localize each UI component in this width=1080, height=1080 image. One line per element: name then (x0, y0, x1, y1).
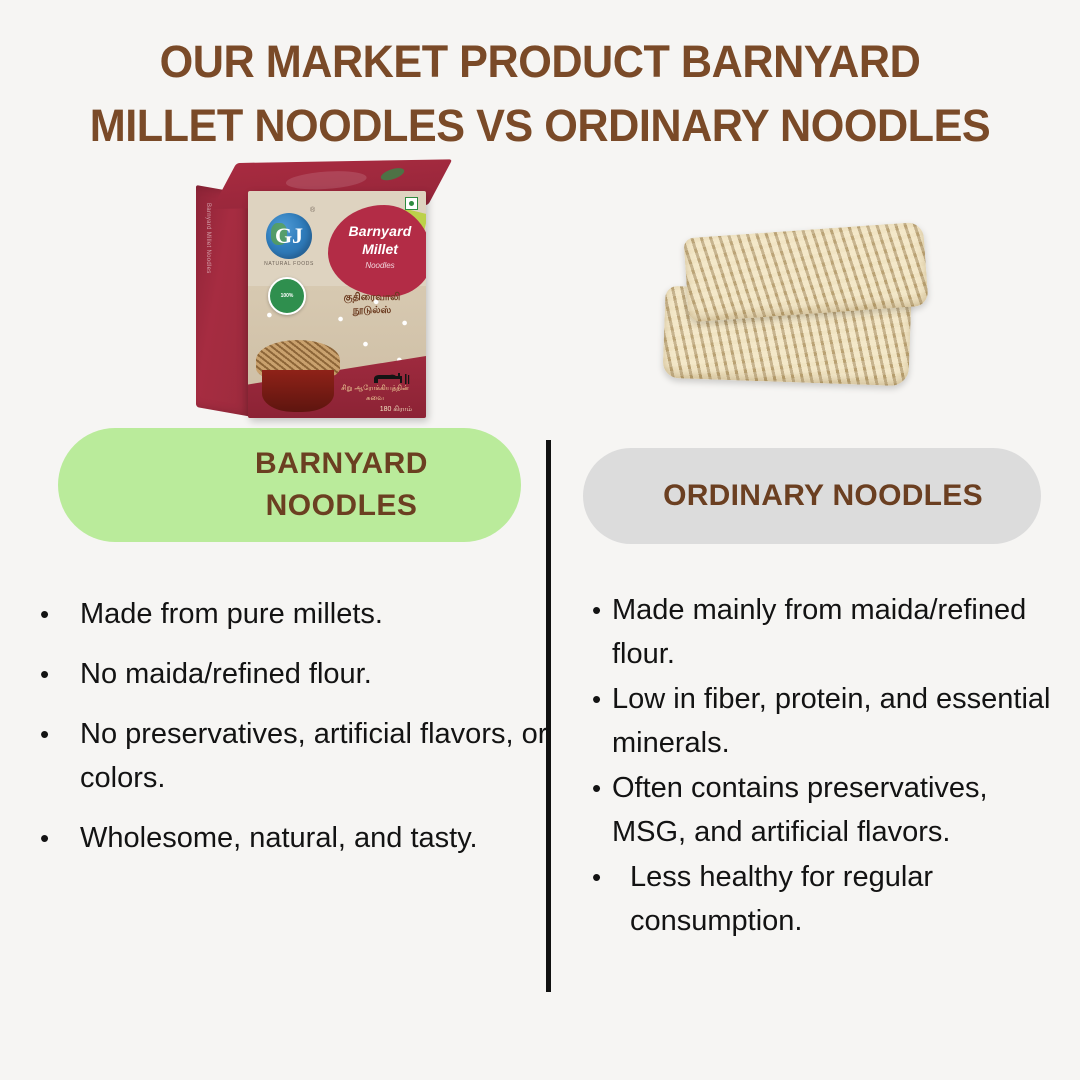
product-name-line-3: Noodles (328, 261, 426, 270)
barnyard-pill-line-2: NOODLES (214, 489, 418, 522)
barnyard-noodles-label-pill: BARNYARD NOODLES (58, 428, 521, 542)
title-line-1: OUR MARKET PRODUCT BARNYARD (22, 30, 1059, 94)
barnyard-pill-text: BARNYARD NOODLES (151, 443, 428, 527)
natural-badge-icon: 100% (268, 277, 306, 315)
box-top-oval-accent (278, 171, 374, 191)
bullet-icon: • (40, 592, 80, 636)
box-top-green-accent (377, 168, 409, 180)
box-side-text: Barnyard Millet Noodles (203, 203, 212, 353)
bowl-illustration (262, 370, 334, 412)
bullet-icon: • (592, 766, 612, 810)
infographic-canvas: OUR MARKET PRODUCT BARNYARD MILLET NOODL… (0, 0, 1080, 1080)
product-name-line-1: Barnyard (328, 223, 426, 239)
ordinary-drawbacks-list: • Made mainly from maida/refined flour. … (592, 588, 1062, 944)
box-front-panel: Barnyard Millet Noodles GJ ® NATURAL FOO… (248, 191, 426, 418)
ordinary-noodles-label-pill: ORDINARY NOODLES (583, 448, 1041, 544)
product-name-tamil: குதிரைவாலி நூடுல்ஸ் (326, 291, 418, 317)
net-weight-label: 180 கிராம் (380, 405, 412, 414)
brand-tagline: NATURAL FOODS (256, 261, 322, 267)
list-item: • Less healthy for regular consumption. (592, 855, 1062, 943)
title-line-2: MILLET NOODLES VS ORDINARY NOODLES (22, 94, 1059, 158)
list-item-text: Made from pure millets. (80, 592, 560, 636)
page-title: OUR MARKET PRODUCT BARNYARD MILLET NOODL… (0, 30, 1080, 158)
bullet-icon: • (592, 588, 612, 632)
bullet-icon: • (40, 816, 80, 860)
barnyard-product-box-image: Barnyard Millet Noodles Barnyard Millet … (196, 163, 428, 418)
list-item: • Made from pure millets. (40, 592, 560, 636)
barnyard-pill-line-1: BARNYARD (203, 447, 428, 480)
tamil-footer-text: சிறு ஆரோக்கியத்தின் சுவை (332, 384, 418, 404)
bullet-icon: • (40, 712, 80, 756)
veg-mark-icon (405, 197, 418, 210)
list-item-text: Less healthy for regular consumption. (630, 855, 1062, 943)
list-item-text: Low in fiber, protein, and essential min… (612, 677, 1062, 765)
product-name-blob: Barnyard Millet Noodles (328, 205, 426, 297)
barnyard-benefits-list: • Made from pure millets. • No maida/ref… (40, 592, 560, 876)
product-name-line-2: Millet (328, 241, 426, 257)
list-item: • Low in fiber, protein, and essential m… (592, 677, 1062, 765)
ordinary-noodle-cakes-image (660, 228, 930, 390)
natural-badge-text: 100% (281, 293, 294, 300)
bullet-icon: • (592, 855, 630, 899)
bullet-icon: • (592, 677, 612, 721)
list-item: • No preservatives, artificial flavors, … (40, 712, 560, 800)
list-item: • No maida/refined flour. (40, 652, 560, 696)
list-item-text: No maida/refined flour. (80, 652, 560, 696)
list-item-text: Wholesome, natural, and tasty. (80, 816, 560, 860)
list-item: • Wholesome, natural, and tasty. (40, 816, 560, 860)
brand-initials: GJ (266, 213, 312, 259)
ordinary-pill-text: ORDINARY NOODLES (641, 479, 983, 513)
list-item-text: Made mainly from maida/refined flour. (612, 588, 1062, 676)
bullet-icon: • (40, 652, 80, 696)
gj-brand-logo-icon: GJ (266, 213, 312, 259)
list-item-text: Often contains preservatives, MSG, and a… (612, 766, 1062, 854)
list-item: • Often contains preservatives, MSG, and… (592, 766, 1062, 854)
list-item-text: No preservatives, artificial flavors, or… (80, 712, 560, 800)
noodle-cake-top (683, 222, 928, 323)
list-item: • Made mainly from maida/refined flour. (592, 588, 1062, 676)
